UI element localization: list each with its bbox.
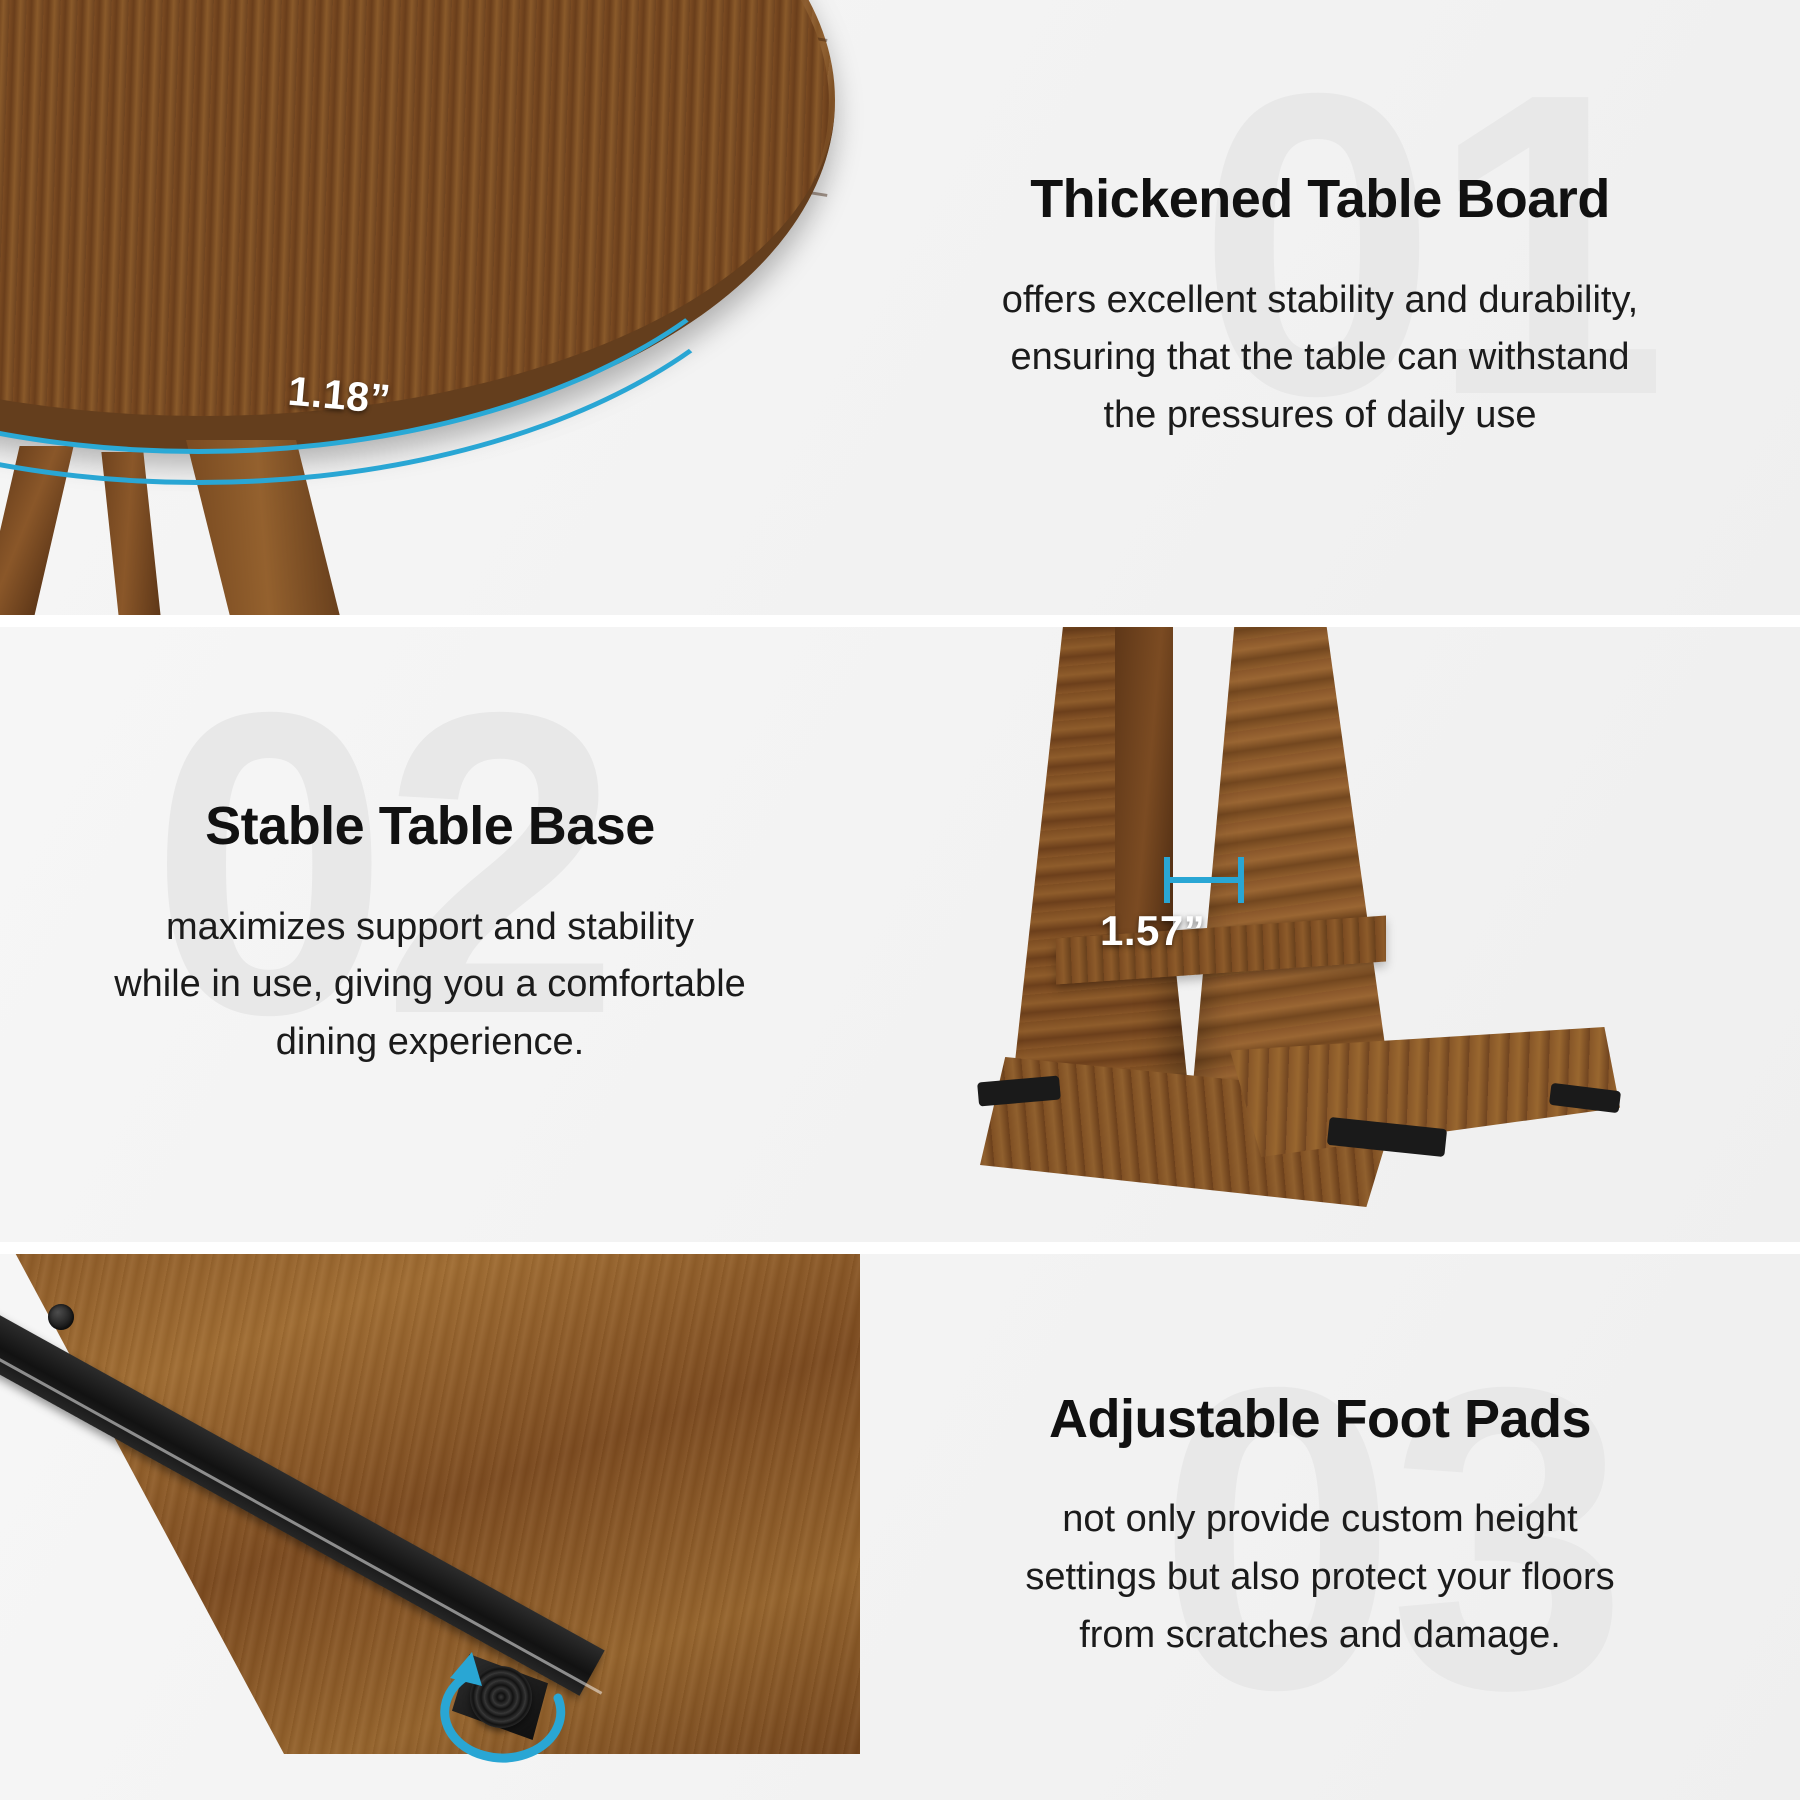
panel-divider (0, 615, 1800, 627)
panel-01-body-line-2: ensuring that the table can withstand (1002, 329, 1638, 387)
panel-03-title: Adjustable Foot Pads (1049, 1390, 1591, 1449)
panel-01-text-block: Thickened Table Board offers excellent s… (840, 0, 1800, 615)
panel-02-body: maximizes support and stability while in… (114, 899, 746, 1072)
dimension-label-base-width: 1.57” (1100, 907, 1205, 955)
dimension-bar (1166, 877, 1242, 883)
foot-pad-photo (0, 1254, 880, 1800)
panel-03-body-line-2: settings but also protect your floors (1025, 1549, 1614, 1607)
dimension-label-thickness: 1.18” (286, 368, 393, 424)
table-leg (101, 452, 160, 615)
panel-01-body-line-1: offers excellent stability and durabilit… (1002, 272, 1638, 330)
panel-02-title: Stable Table Base (205, 797, 655, 856)
table-leg (0, 446, 74, 615)
panel-divider (0, 1242, 1800, 1254)
panel-03-body-line-3: from scratches and damage. (1025, 1607, 1614, 1665)
panel-02-text-block: Stable Table Base maximizes support and … (0, 627, 860, 1242)
panel-01-title: Thickened Table Board (1030, 170, 1610, 229)
feature-panel-02: 02 1.57” Stable Table Base maximizes sup… (0, 627, 1800, 1242)
feature-panel-01: 01 1.18” Thickened Table Board offers ex… (0, 0, 1800, 615)
dimension-cap-right (1238, 857, 1244, 903)
table-leg (186, 440, 340, 615)
panel-02-body-line-2: while in use, giving you a comfortable (114, 956, 746, 1014)
panel-01-body-line-3: the pressures of daily use (1002, 387, 1638, 445)
product-feature-infographic: 01 1.18” Thickened Table Board offers ex… (0, 0, 1800, 1800)
feature-panel-03: 03 Adjustable Foot Pads not only provide… (0, 1254, 1800, 1800)
panel-01-body: offers excellent stability and durabilit… (1002, 272, 1638, 445)
panel-02-body-line-3: dining experience. (114, 1014, 746, 1072)
panel-03-body-line-1: not only provide custom height (1025, 1491, 1614, 1549)
rotation-arrow-icon (430, 1646, 580, 1776)
table-base-photo: 1.57” (860, 627, 1800, 1242)
panel-03-body: not only provide custom height settings … (1025, 1491, 1614, 1664)
dimension-marker-width (1158, 857, 1250, 901)
table-board-photo: 1.18” (0, 0, 900, 615)
panel-03-text-block: Adjustable Foot Pads not only provide cu… (840, 1254, 1800, 1800)
panel-02-body-line-1: maximizes support and stability (114, 899, 746, 957)
screw-head-icon (48, 1304, 74, 1330)
tabletop-edge-shadow (0, 0, 835, 450)
